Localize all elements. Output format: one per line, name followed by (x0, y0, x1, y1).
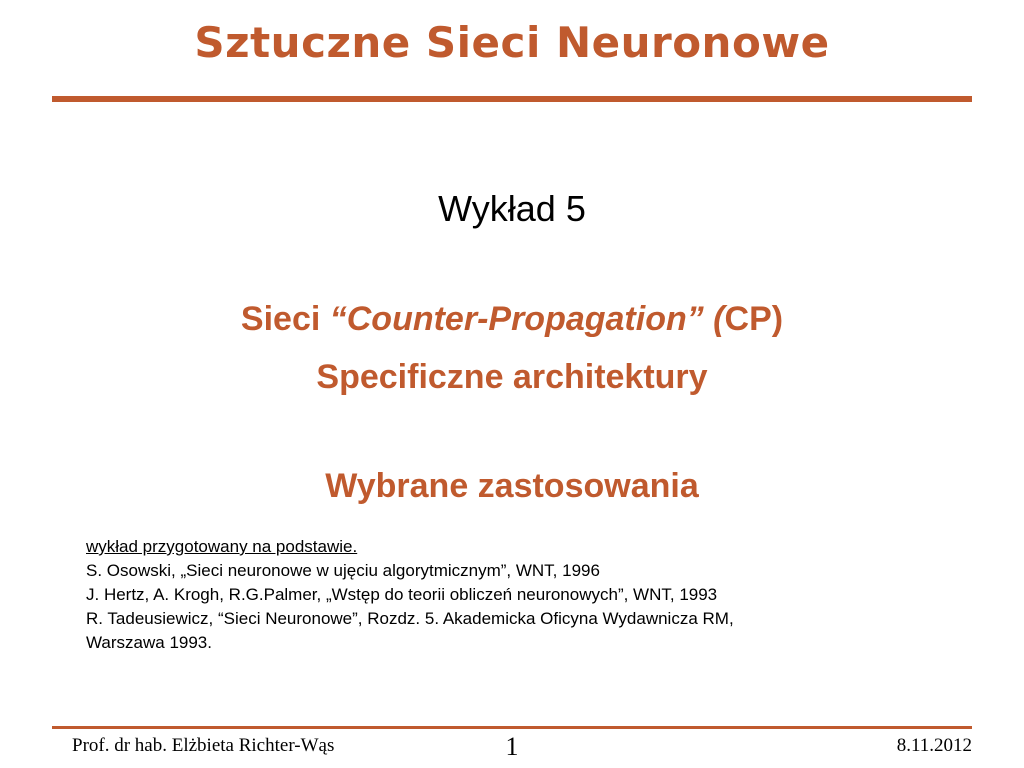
references-header: wykład przygotowany na podstawie. (86, 535, 916, 559)
lecture-number: Wykład 5 (0, 188, 1024, 230)
footer-divider (52, 726, 972, 729)
subtitle-pre: Sieci (241, 300, 330, 338)
title-divider (52, 96, 972, 102)
subtitle-tertiary: Wybrane zastosowania (0, 467, 1024, 506)
footer-page-number: 1 (0, 732, 1024, 762)
subtitle-post: CP) (725, 300, 784, 338)
references-block: wykład przygotowany na podstawie. S. Oso… (86, 535, 916, 655)
subtitle-secondary: Specificzne architektury (0, 358, 1024, 397)
reference-item: Warszawa 1993. (86, 631, 916, 655)
subtitle-primary: Sieci “Counter-Propagation” (CP) (0, 300, 1024, 339)
page-title: Sztuczne Sieci Neuronowe (0, 18, 1024, 67)
reference-item: J. Hertz, A. Krogh, R.G.Palmer, „Wstęp d… (86, 583, 916, 607)
slide: Sztuczne Sieci Neuronowe Wykład 5 Sieci … (0, 0, 1024, 768)
reference-item: R. Tadeusiewicz, “Sieci Neuronowe”, Rozd… (86, 607, 916, 631)
footer-date: 8.11.2012 (897, 735, 972, 757)
reference-item: S. Osowski, „Sieci neuronowe w ujęciu al… (86, 559, 916, 583)
subtitle-italic: “Counter-Propagation” ( (330, 300, 725, 338)
